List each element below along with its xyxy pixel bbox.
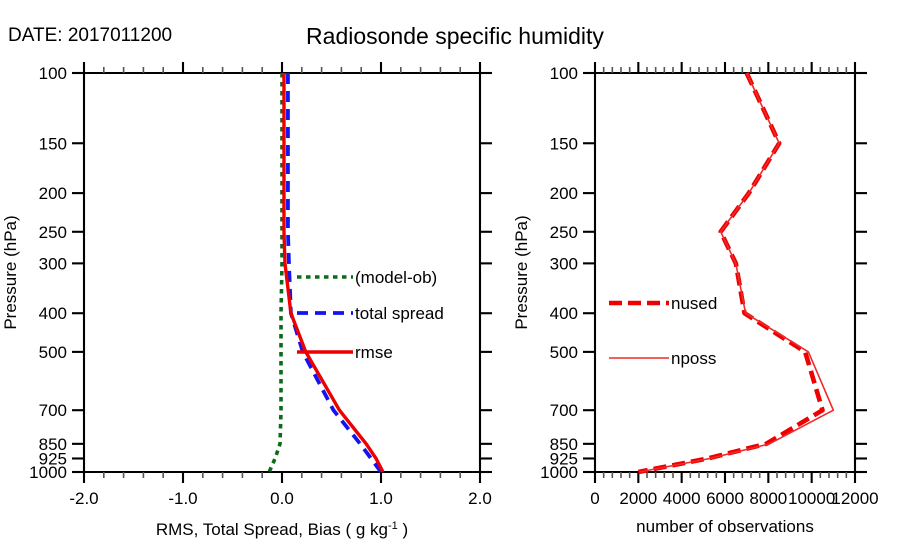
xtick-label: 0 (590, 489, 599, 508)
ytick-label: 1000 (29, 463, 67, 482)
legend-label-nused: nused (671, 294, 717, 313)
yaxis-title: Pressure (hPa) (1, 215, 20, 329)
xtick-label: 8000 (749, 489, 787, 508)
legend-item-total_spread[interactable]: total spread (297, 304, 444, 323)
ytick-label: 400 (550, 304, 578, 323)
date-label: DATE: 2017011200 (8, 25, 172, 46)
legend-item-bias[interactable]: (model-ob) (297, 268, 437, 287)
ytick-label: 100 (39, 64, 67, 83)
series-line-nused (638, 73, 822, 472)
ytick-label: 700 (550, 401, 578, 420)
ytick-label: 200 (550, 184, 578, 203)
ytick-label: 250 (550, 223, 578, 242)
ytick-label: 250 (39, 223, 67, 242)
ytick-label: 500 (39, 343, 67, 362)
legend-item-nused[interactable]: nused (609, 294, 717, 313)
legend-label-nposs: nposs (671, 349, 716, 368)
legend-label-total_spread: total spread (355, 304, 444, 323)
ytick-label: 500 (550, 343, 578, 362)
xtick-label: 10000 (788, 489, 835, 508)
xtick-label: 2000 (619, 489, 657, 508)
panel-left: -2.0-1.00.01.02.010015020025030040050070… (1, 62, 492, 539)
ytick-label: 300 (550, 254, 578, 273)
ytick-label: 150 (39, 134, 67, 153)
xtick-label: 1.0 (369, 489, 393, 508)
xtick-label: -1.0 (168, 489, 197, 508)
plot-svg: DATE: 2017011200Radiosonde specific humi… (0, 0, 900, 560)
xtick-label: -2.0 (69, 489, 98, 508)
xtick-label: 12000 (831, 489, 878, 508)
xtick-label: 2.0 (468, 489, 492, 508)
ytick-label: 300 (39, 254, 67, 273)
xtick-label: 6000 (706, 489, 744, 508)
ytick-label: 200 (39, 184, 67, 203)
legend-label-bias: (model-ob) (355, 268, 437, 287)
legend-item-nposs[interactable]: nposs (609, 349, 716, 368)
ytick-label: 100 (550, 64, 578, 83)
ytick-label: 1000 (540, 463, 578, 482)
series-line-bias (269, 73, 282, 472)
page-title: Radiosonde specific humidity (306, 23, 604, 49)
xtick-label: 4000 (663, 489, 701, 508)
yaxis-title: Pressure (hPa) (512, 215, 531, 329)
panel-right: 0200040006000800010000120001001502002503… (512, 62, 879, 536)
figure-canvas: DATE: 2017011200Radiosonde specific humi… (0, 0, 900, 560)
xtick-label: 0.0 (270, 489, 294, 508)
legend-label-rmse: rmse (355, 343, 393, 362)
ytick-label: 400 (39, 304, 67, 323)
ytick-label: 700 (39, 401, 67, 420)
series-line-nposs (639, 73, 833, 472)
xaxis-title: RMS, Total Spread, Bias ( g kg-1 ) (156, 520, 408, 539)
xaxis-title: number of observations (636, 517, 814, 536)
ytick-label: 150 (550, 134, 578, 153)
